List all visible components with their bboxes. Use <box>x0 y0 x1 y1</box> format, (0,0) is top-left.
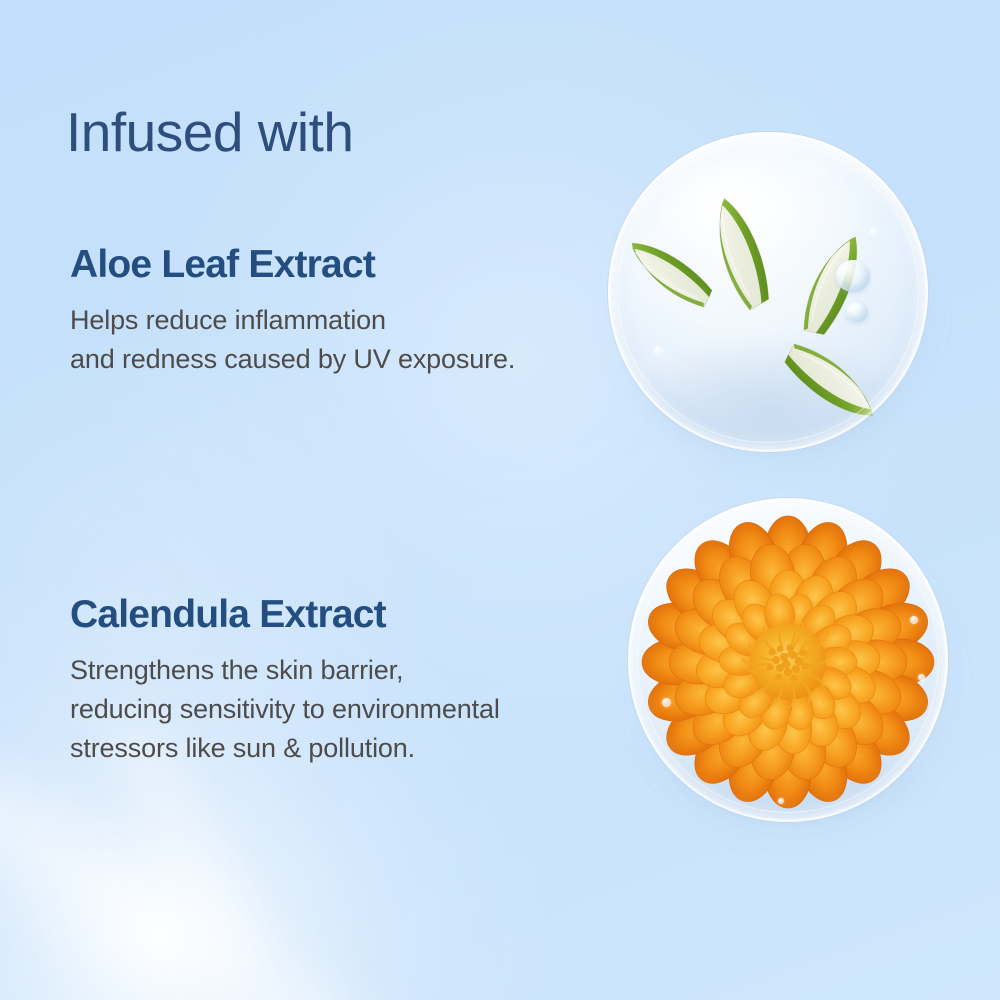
ingredient-title-aloe: Aloe Leaf Extract <box>70 244 515 287</box>
ingredient-infographic-poster: Infused with Aloe Leaf Extract Helps red… <box>0 0 1000 1000</box>
ingredient-block-aloe: Aloe Leaf Extract Helps reduce inflammat… <box>70 244 515 379</box>
dish-rim-highlight-arc <box>610 134 926 450</box>
description-line: reducing sensitivity to environmental <box>70 690 500 729</box>
ingredient-description-calendula: Strengthens the skin barrier, reducing s… <box>70 651 500 768</box>
dish-rim-highlight-arc <box>630 500 946 820</box>
description-line: Strengthens the skin barrier, <box>70 651 500 690</box>
ingredient-block-calendula: Calendula Extract Strengthens the skin b… <box>70 594 500 768</box>
page-title: Infused with <box>66 104 354 162</box>
description-line: Helps reduce inflammation <box>70 301 515 340</box>
description-line: stressors like sun & pollution. <box>70 729 500 768</box>
ingredient-title-calendula: Calendula Extract <box>70 594 500 637</box>
description-line: and redness caused by UV exposure. <box>70 340 515 379</box>
calendula-petri-dish-image <box>628 498 948 822</box>
ingredient-description-aloe: Helps reduce inflammation and redness ca… <box>70 301 515 379</box>
aloe-petri-dish-image <box>608 132 928 452</box>
